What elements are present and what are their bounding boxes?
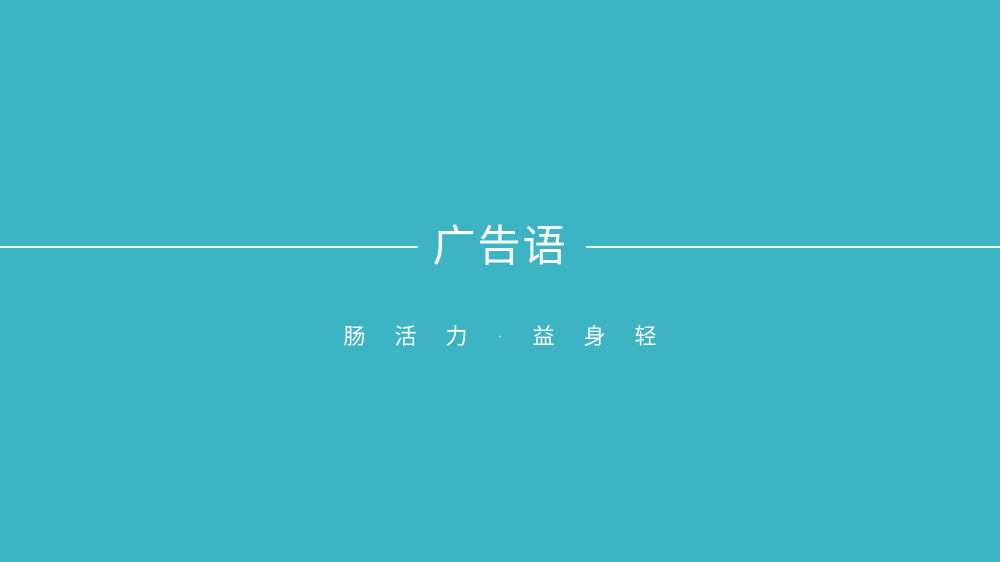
slide-subtitle: 肠 活 力 · 益 身 轻 (0, 322, 1000, 354)
page-title: 广告语 (0, 221, 1000, 273)
slide-canvas: 广告语 肠 活 力 · 益 身 轻 (0, 0, 1000, 562)
slide-content: 广告语 肠 活 力 · 益 身 轻 (0, 0, 1000, 562)
